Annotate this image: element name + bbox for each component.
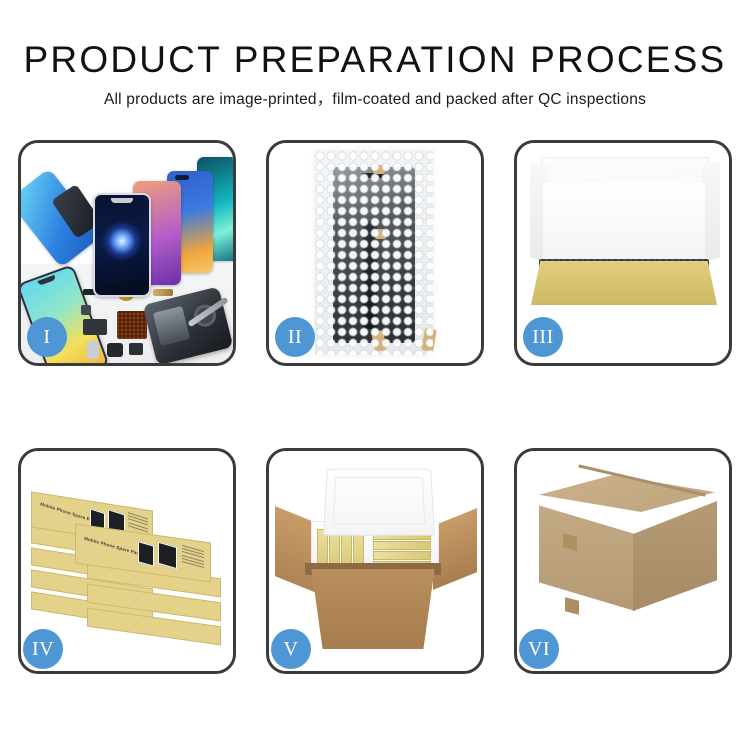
process-steps-grid: I II — [18, 140, 732, 674]
step-panel-bubble-wrap-packing[interactable]: II — [266, 140, 484, 366]
component-bit — [153, 289, 173, 296]
carton-side-face — [633, 501, 717, 611]
component-bit — [81, 305, 91, 315]
carton-body — [303, 569, 443, 649]
screw-grid-icon — [117, 311, 147, 339]
box-label-screen-image — [158, 542, 177, 569]
phone-screen-blue-film — [21, 168, 102, 268]
step-badge-1: I — [27, 317, 67, 357]
page-subtitle: All products are image-printed，film-coat… — [0, 90, 750, 110]
component-bit — [83, 319, 107, 335]
page-header: PRODUCT PREPARATION PROCESS All products… — [0, 0, 750, 110]
kraft-box-base — [531, 261, 717, 305]
product-preparation-page: PRODUCT PREPARATION PROCESS All products… — [0, 0, 750, 750]
step-badge-5: V — [271, 629, 311, 669]
step-panel-boxes-stacked[interactable]: Mobile Phone Spare Parts Mobile Phone Sp… — [18, 448, 236, 674]
page-title: PRODUCT PREPARATION PROCESS — [0, 38, 750, 82]
box-label-specs — [182, 545, 204, 570]
step-panel-inner-box-packing[interactable]: III — [514, 140, 732, 366]
step-panel-product-parts[interactable]: I — [18, 140, 236, 366]
component-bit — [129, 343, 143, 355]
bubble-texture — [315, 151, 433, 355]
carton-tape-patch — [565, 597, 579, 614]
box-stack: Mobile Phone Spare Parts Mobile Phone Sp… — [29, 473, 229, 651]
step-badge-4: IV — [23, 629, 63, 669]
component-bit — [87, 341, 99, 359]
bubble-wrap-bag — [315, 151, 433, 355]
box-label-screen-image — [138, 541, 154, 566]
step-badge-2: II — [275, 317, 315, 357]
phone-screen-lightning — [93, 193, 151, 297]
carton-flap-right — [433, 508, 477, 590]
component-bit — [107, 343, 123, 357]
step-panel-sealed-carton[interactable]: VI — [514, 448, 732, 674]
step-panel-foam-carton-packing[interactable]: V — [266, 448, 484, 674]
carton-front-face — [539, 501, 635, 611]
box-label-text: Mobile Phone Spare Parts — [84, 536, 143, 557]
foam-box-lid — [323, 469, 435, 536]
step-badge-6: VI — [519, 629, 559, 669]
foam-sheet — [543, 183, 705, 265]
step-badge-3: III — [523, 317, 563, 357]
